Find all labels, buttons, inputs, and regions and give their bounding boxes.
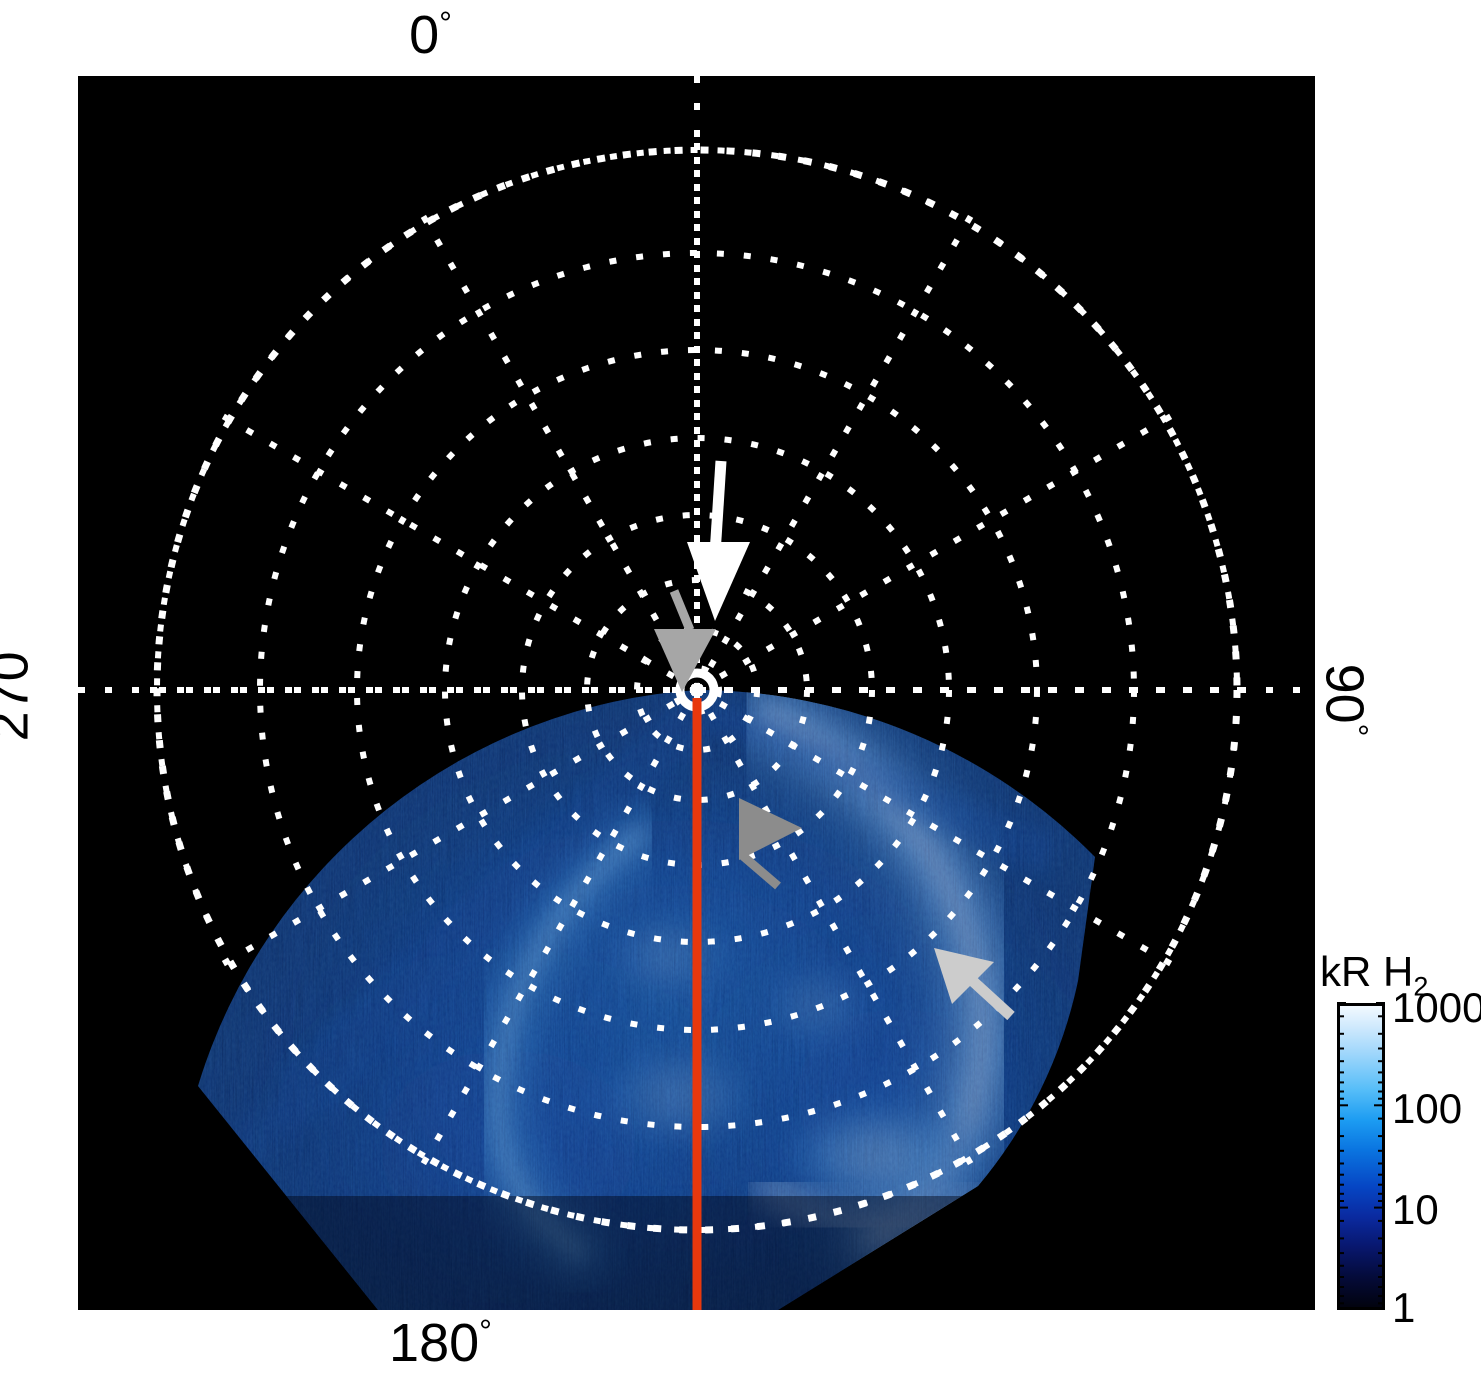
axis-label-left-value: 270: [0, 651, 39, 741]
polar-plot-svg: [78, 76, 1315, 1310]
axis-label-bottom-value: 180: [389, 1313, 479, 1373]
colorbar-minor-ticks: [1337, 1003, 1385, 1303]
colorbar: kR H2: [1320, 948, 1480, 1328]
axis-label-right: 90°: [1317, 664, 1371, 737]
degree-symbol: °: [0, 639, 15, 652]
degree-symbol: °: [1338, 724, 1374, 737]
axis-label-left: 270°: [0, 639, 36, 742]
axis-label-right-value: 90: [1314, 664, 1374, 724]
polar-aurora-figure: 0° 270° 90° 180°: [0, 0, 1481, 1386]
colorbar-label-1000: 1000: [1392, 984, 1481, 1032]
axis-label-top-value: 0: [409, 5, 439, 65]
degree-symbol: °: [479, 1313, 492, 1349]
colorbar-ticks: [1337, 1003, 1385, 1310]
colorbar-label-100: 100: [1392, 1085, 1462, 1133]
polar-plot-area: [78, 76, 1315, 1310]
axis-label-bottom: 180°: [0, 1316, 1481, 1370]
axis-label-top: 0°: [0, 8, 1481, 62]
colorbar-label-1: 1: [1392, 1284, 1415, 1332]
colorbar-label-10: 10: [1392, 1186, 1439, 1234]
degree-symbol: °: [439, 5, 452, 41]
